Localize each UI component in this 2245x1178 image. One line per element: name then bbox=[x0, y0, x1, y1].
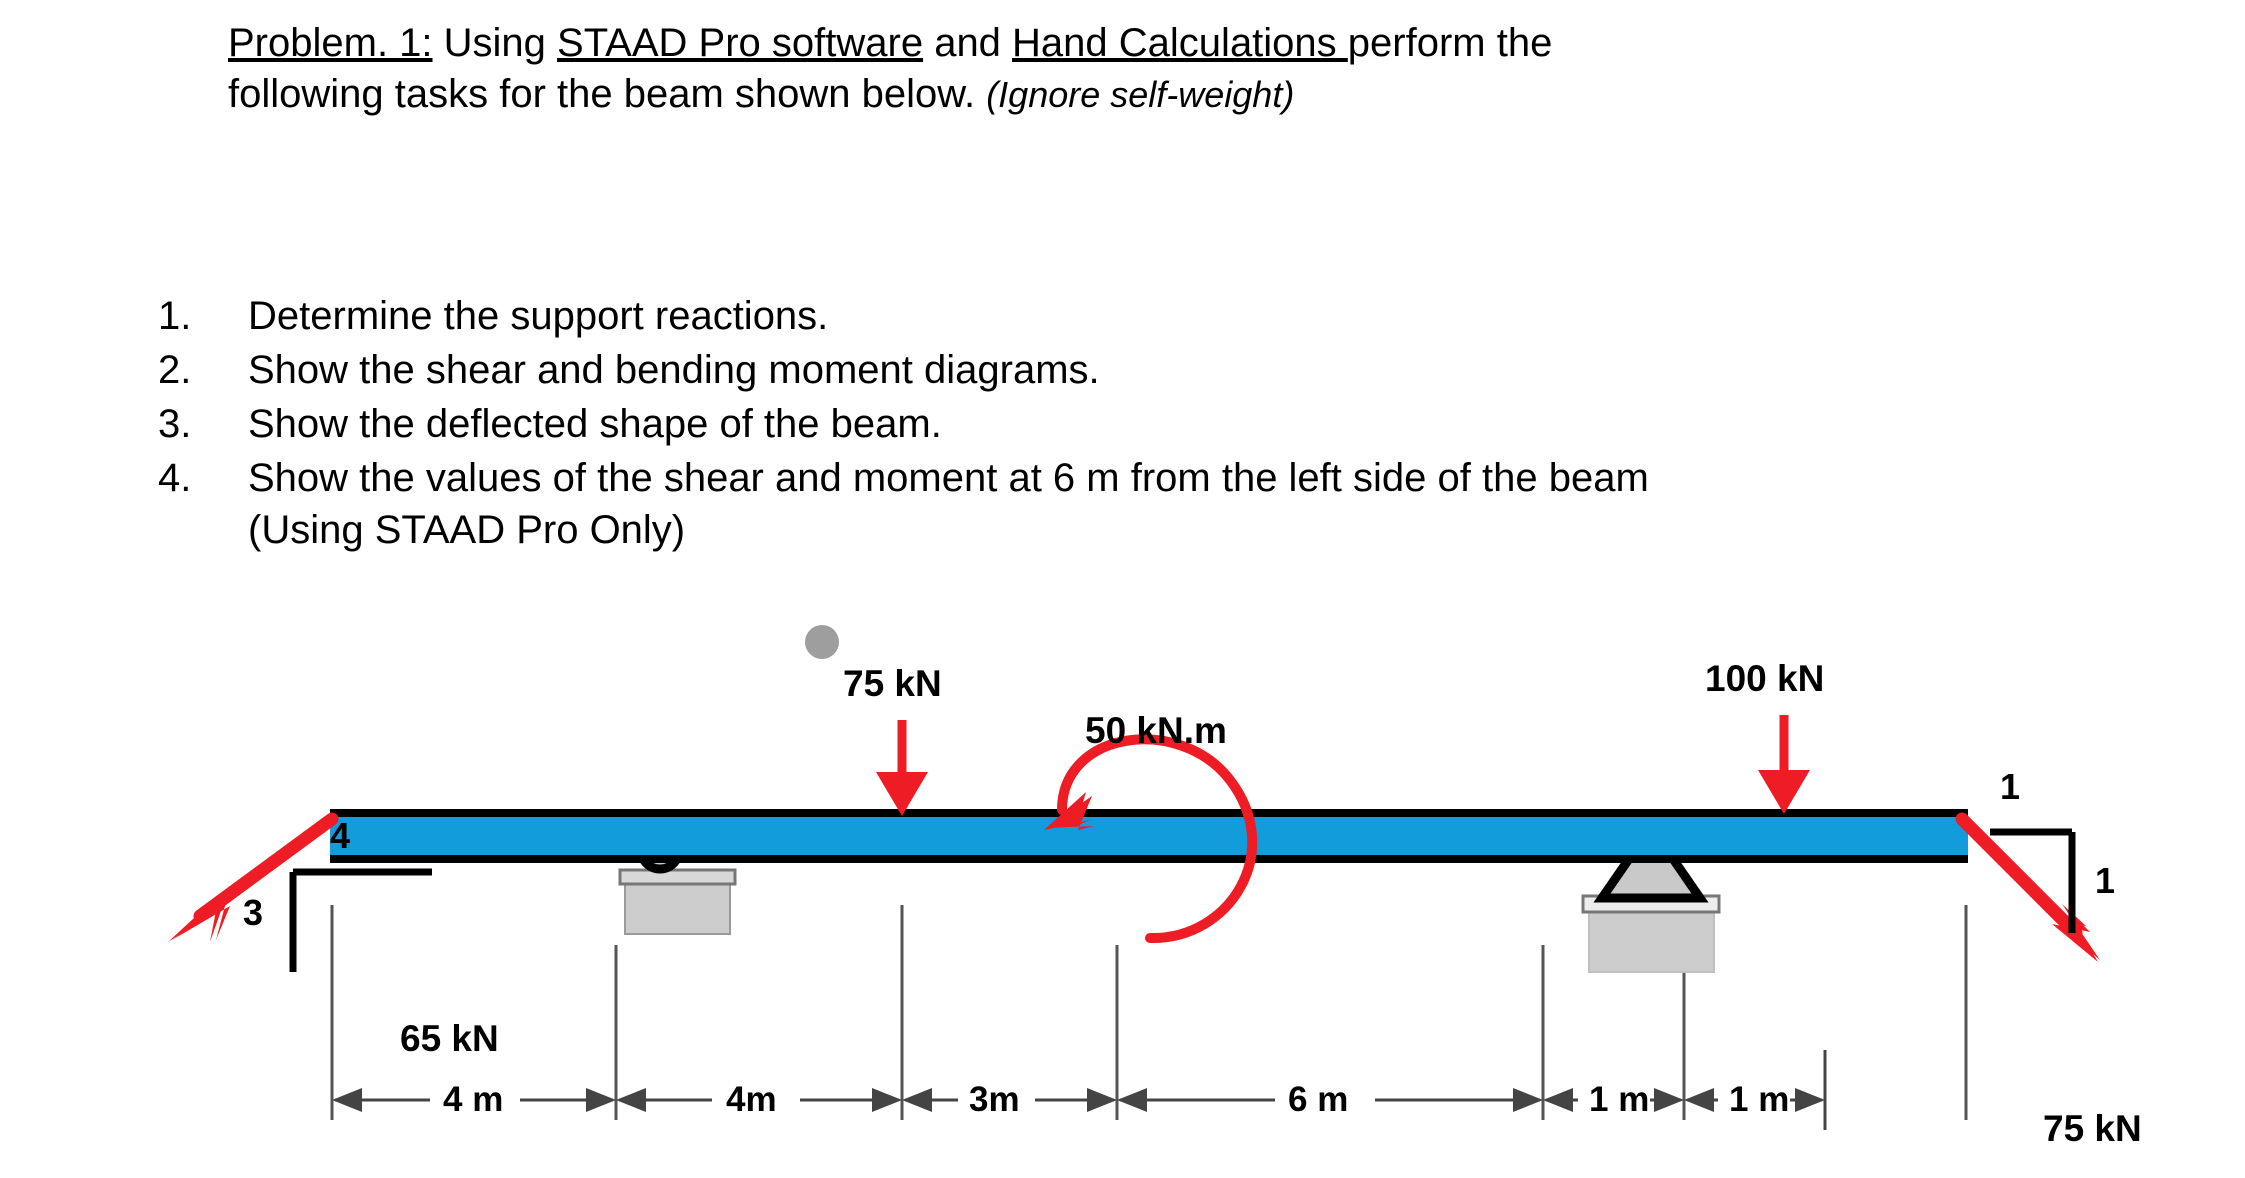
beam-diagram-svg bbox=[0, 620, 2245, 1165]
dimension-label-3: 3m bbox=[969, 1080, 1020, 1120]
point-load-75-arrow bbox=[876, 720, 928, 816]
task-number-4: 4. bbox=[158, 452, 228, 504]
problem-line2: following tasks for the beam shown below… bbox=[228, 72, 986, 116]
point-load-75-label: 75 kN bbox=[843, 663, 942, 705]
task-number-1: 1. bbox=[158, 290, 228, 342]
dimension-label-6: 1 m bbox=[1729, 1080, 1789, 1120]
left-load-magnitude-label: 65 kN bbox=[400, 1018, 499, 1060]
right-load-magnitude-label: 75 kN bbox=[2043, 1108, 2142, 1150]
task-item-1: 1.Determine the support reactions. bbox=[150, 290, 2150, 342]
task-item-4: 4.Show the values of the shear and momen… bbox=[150, 452, 2150, 556]
point-load-100-label: 100 kN bbox=[1705, 658, 1824, 700]
task-text-3: Show the deflected shape of the beam. bbox=[248, 402, 942, 446]
task-number-2: 2. bbox=[158, 344, 228, 396]
task-text-1: Determine the support reactions. bbox=[248, 294, 828, 338]
right-slope-vertical-label: 1 bbox=[2095, 860, 2115, 902]
task-list: 1.Determine the support reactions. 2.Sho… bbox=[150, 290, 2150, 558]
problem-text-b: and bbox=[923, 21, 1012, 65]
dimension-label-2: 4m bbox=[726, 1080, 777, 1120]
problem-text-c: perform the bbox=[1348, 21, 1553, 65]
task-text-4: Show the values of the shear and moment … bbox=[248, 456, 1649, 500]
moment-load-50-label: 50 kN.m bbox=[1085, 710, 1227, 752]
left-slope-triangle bbox=[293, 872, 432, 972]
cursor-dot-icon bbox=[805, 625, 839, 659]
dimension-label-4: 6 m bbox=[1288, 1080, 1348, 1120]
task-item-3: 3.Show the deflected shape of the beam. bbox=[150, 398, 2150, 450]
right-slope-horizontal-label: 1 bbox=[2000, 766, 2020, 808]
software-name: STAAD Pro software bbox=[557, 21, 923, 65]
task-text-2: Show the shear and bending moment diagra… bbox=[248, 348, 1100, 392]
problem-statement: Problem. 1: Using STAAD Pro software and… bbox=[228, 18, 2018, 120]
beam-element bbox=[330, 809, 1968, 863]
task-number-3: 3. bbox=[158, 398, 228, 450]
left-slope-vertical-label: 3 bbox=[243, 892, 263, 934]
problem-label: Problem. 1: bbox=[228, 21, 433, 65]
beam-diagram: 65 kN 3 4 75 kN 50 kN.m 100 kN 1 1 75 kN… bbox=[0, 620, 2245, 1165]
ignore-self-weight-note: (Ignore self-weight) bbox=[986, 74, 1294, 115]
hand-calculations: Hand Calculations bbox=[1012, 21, 1348, 65]
dimension-label-1: 4 m bbox=[443, 1080, 503, 1120]
task-subtext-4: (Using STAAD Pro Only) bbox=[248, 504, 2150, 556]
right-inclined-load-arrow bbox=[1962, 819, 2100, 962]
problem-text-a: Using bbox=[433, 21, 558, 65]
left-slope-horizontal-label: 4 bbox=[330, 815, 350, 857]
task-item-2: 2.Show the shear and bending moment diag… bbox=[150, 344, 2150, 396]
point-load-100-arrow bbox=[1758, 715, 1810, 814]
dimension-label-5: 1 m bbox=[1589, 1080, 1649, 1120]
